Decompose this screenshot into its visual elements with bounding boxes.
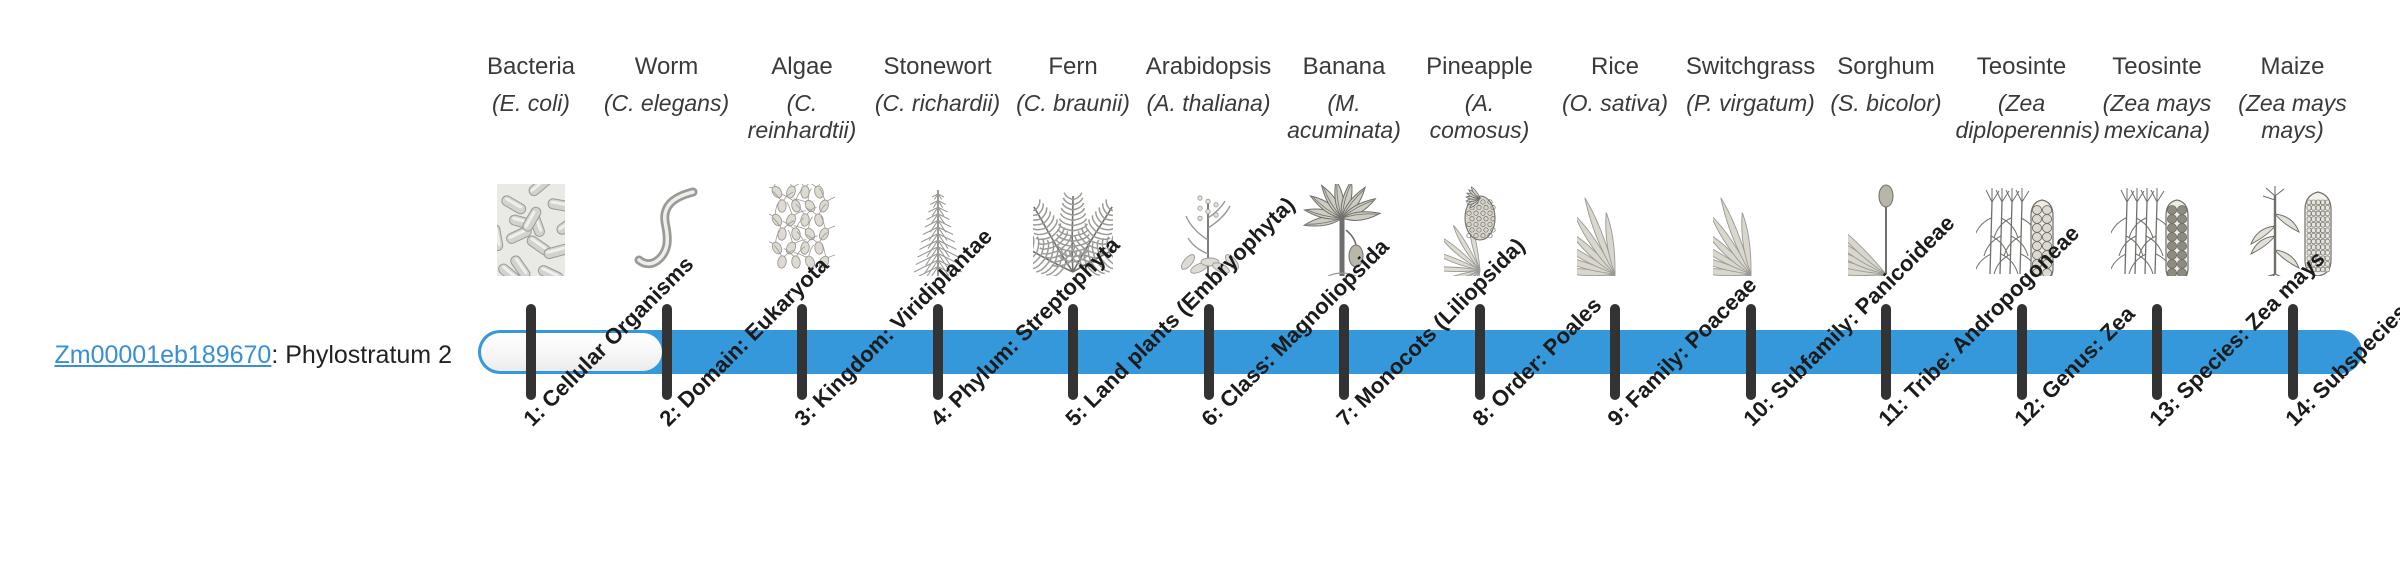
species-latin-name: (C. braunii): [1005, 90, 1141, 117]
species-latin-name: (P. virgatum): [1683, 90, 1819, 117]
species-common-name: Bacteria: [463, 52, 599, 82]
species-common-name: Sorghum: [1818, 52, 1954, 82]
species-common-name: Algae: [734, 52, 870, 82]
stratum-tick-6[interactable]: [1204, 304, 1214, 400]
stratum-tick-2[interactable]: [662, 304, 672, 400]
species-latin-name: (A. thaliana): [1141, 90, 1277, 117]
species-latin-name: (M. acuminata): [1276, 90, 1412, 144]
stratum-tick-9[interactable]: [1610, 304, 1620, 400]
species-column-switchgrass-9: Switchgrass(P. virgatum): [1683, 52, 1819, 117]
species-column-arabidopsis-5: Arabidopsis(A. thaliana): [1141, 52, 1277, 117]
stratum-tick-4[interactable]: [933, 304, 943, 400]
species-common-name: Maize: [2225, 52, 2361, 82]
species-common-name: Switchgrass: [1683, 52, 1819, 82]
stratum-tick-12[interactable]: [2017, 304, 2027, 400]
species-common-name: Pineapple: [1412, 52, 1548, 82]
species-column-bacteria-0: Bacteria(E. coli): [463, 52, 599, 117]
species-latin-name: (C. richardii): [870, 90, 1006, 117]
species-column-teosinte-12: Teosinte(Zea mays mexicana): [2089, 52, 2225, 144]
species-latin-name: (Zea diploperennis): [1954, 90, 2090, 144]
gene-id-link[interactable]: Zm00001eb189670: [54, 341, 271, 369]
stratum-tick-5[interactable]: [1068, 304, 1078, 400]
stratum-tick-13[interactable]: [2152, 304, 2162, 400]
species-column-pineapple-7: Pineapple(A. comosus): [1412, 52, 1548, 144]
stratum-tick-14[interactable]: [2288, 304, 2298, 400]
species-column-fern-4: Fern(C. braunii): [1005, 52, 1141, 117]
species-column-rice-8: Rice(O. sativa): [1547, 52, 1683, 117]
bacteria-icon: [463, 168, 599, 276]
species-common-name: Teosinte: [1954, 52, 2090, 82]
species-common-name: Teosinte: [2089, 52, 2225, 82]
species-latin-name: (S. bicolor): [1818, 90, 1954, 117]
species-common-name: Arabidopsis: [1141, 52, 1277, 82]
species-column-teosinte-11: Teosinte(Zea diploperennis): [1954, 52, 2090, 144]
stratum-tick-3[interactable]: [797, 304, 807, 400]
species-column-stonewort-3: Stonewort(C. richardii): [870, 52, 1006, 117]
species-latin-name: (C. elegans): [599, 90, 735, 117]
gene-phylostratum-label: Zm00001eb189670: Phylostratum 2: [0, 340, 452, 370]
species-latin-name: (E. coli): [463, 90, 599, 117]
phylostratum-figure: Zm00001eb189670: Phylostratum 2 Bacteria…: [0, 0, 2400, 580]
stratum-tick-8[interactable]: [1475, 304, 1485, 400]
species-latin-name: (Zea mays mays): [2225, 90, 2361, 144]
species-column-algae-2: Algae(C. reinhardtii): [734, 52, 870, 144]
species-latin-name: (Zea mays mexicana): [2089, 90, 2225, 144]
species-common-name: Stonewort: [870, 52, 1006, 82]
species-column-sorghum-10: Sorghum(S. bicolor): [1818, 52, 1954, 117]
species-latin-name: (O. sativa): [1547, 90, 1683, 117]
stratum-tick-10[interactable]: [1746, 304, 1756, 400]
stratum-tick-7[interactable]: [1339, 304, 1349, 400]
species-column-worm-1: Worm(C. elegans): [599, 52, 735, 117]
species-common-name: Fern: [1005, 52, 1141, 82]
species-latin-name: (A. comosus): [1412, 90, 1548, 144]
stratum-tick-1[interactable]: [526, 304, 536, 400]
species-latin-name: (C. reinhardtii): [734, 90, 870, 144]
gene-label-separator: :: [271, 341, 285, 369]
stratum-tick-11[interactable]: [1881, 304, 1891, 400]
species-common-name: Rice: [1547, 52, 1683, 82]
species-common-name: Banana: [1276, 52, 1412, 82]
species-common-name: Worm: [599, 52, 735, 82]
phylostratum-value: Phylostratum 2: [285, 341, 452, 369]
species-column-banana-6: Banana(M. acuminata): [1276, 52, 1412, 144]
species-column-maize-13: Maize(Zea mays mays): [2225, 52, 2361, 144]
